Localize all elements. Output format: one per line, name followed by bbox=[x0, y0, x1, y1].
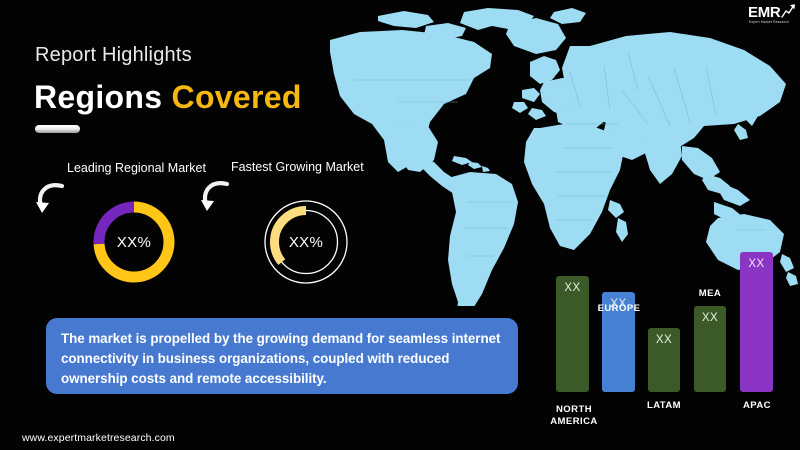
page-title-part-2: Covered bbox=[172, 79, 302, 115]
curved-arrow-icon bbox=[200, 176, 234, 216]
emr-logo-tagline: Expert Market Research bbox=[749, 20, 789, 24]
curved-arrow-icon bbox=[35, 178, 69, 218]
donut-1-value: XX% bbox=[90, 198, 178, 286]
bar-label-north-america: NORTH AMERICA bbox=[548, 404, 600, 428]
world-map bbox=[318, 6, 800, 306]
title-divider bbox=[35, 125, 80, 133]
bar-label-mea: MEA bbox=[688, 288, 732, 300]
bar-label-apac: APAC bbox=[732, 400, 782, 412]
page-title-part-1: Regions bbox=[34, 79, 172, 115]
bar-mea: XX bbox=[694, 306, 726, 392]
bar-north-america: XX bbox=[556, 276, 589, 392]
map-land-shapes bbox=[330, 8, 798, 306]
bar-value-latam: XX bbox=[648, 334, 680, 346]
donut-chart-leading-regional-market: XX% bbox=[90, 198, 178, 286]
bar-value-apac: XX bbox=[740, 258, 773, 270]
bar-label-europe: EUROPE bbox=[596, 303, 642, 315]
growth-arrow-icon bbox=[780, 3, 796, 19]
eyebrow-text: Report Highlights bbox=[35, 44, 192, 67]
donut-title-leading-regional-market: Leading Regional Market bbox=[67, 161, 206, 175]
bar-value-mea: XX bbox=[694, 312, 726, 324]
bar-value-north-america: XX bbox=[556, 282, 589, 294]
bar-label-latam: LATAM bbox=[640, 400, 688, 412]
callout-text: The market is propelled by the growing d… bbox=[61, 329, 504, 389]
callout-box: The market is propelled by the growing d… bbox=[46, 318, 518, 394]
donut-title-fastest-growing-market: Fastest Growing Market bbox=[231, 160, 364, 174]
bar-latam: XX bbox=[648, 328, 680, 392]
donut-chart-fastest-growing-market: XX% bbox=[262, 198, 350, 286]
emr-logo[interactable]: EMR Expert Market Research bbox=[744, 3, 796, 29]
page-title: Regions Covered bbox=[34, 79, 302, 116]
footer-url[interactable]: www.expertmarketresearch.com bbox=[22, 432, 175, 444]
bar-apac: XX bbox=[740, 252, 773, 392]
emr-logo-mark: EMR bbox=[748, 5, 780, 20]
slide-canvas: Report Highlights Regions Covered Leadin… bbox=[0, 0, 800, 450]
regions-bar-chart: XX NORTH AMERICA XX EUROPE XX LATAM XX M… bbox=[552, 276, 800, 436]
donut-2-value: XX% bbox=[262, 198, 350, 286]
